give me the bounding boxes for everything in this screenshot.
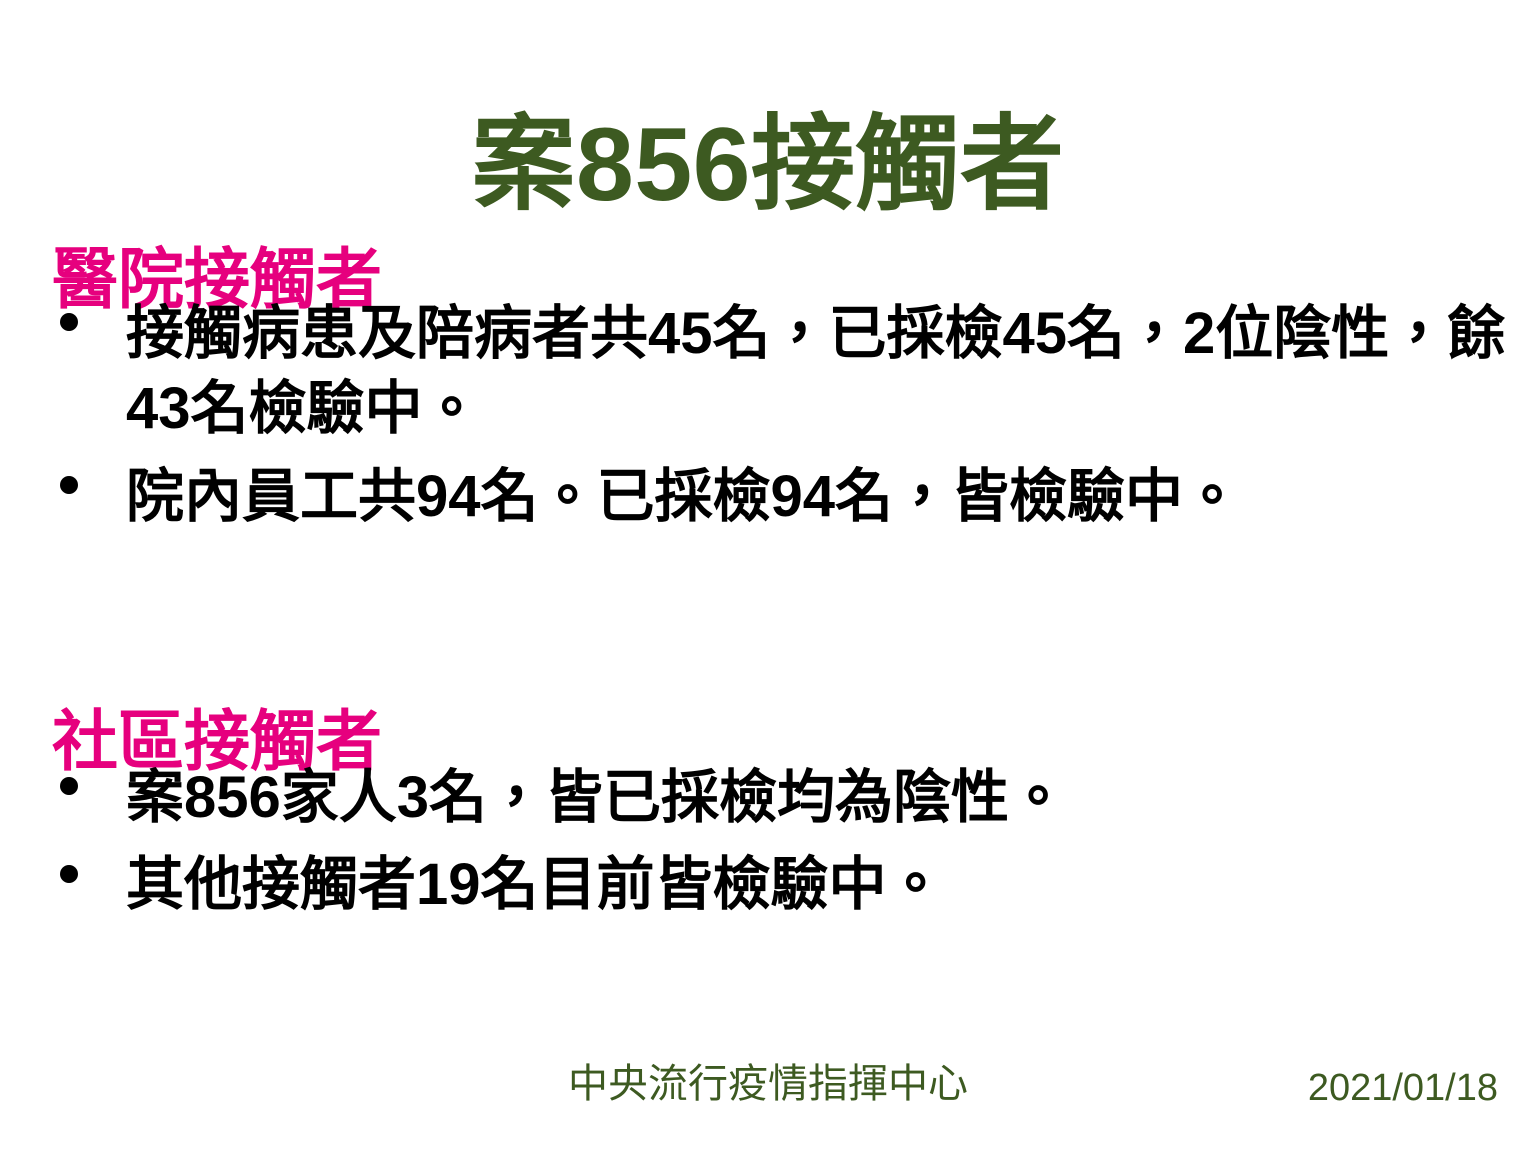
page-title: 案856接觸者: [0, 104, 1536, 227]
bullet-dot-icon: [60, 865, 78, 883]
list-item: 其他接觸者19名目前皆檢驗中。: [46, 847, 1516, 922]
bullet-dot-icon: [60, 777, 78, 795]
footer-organization: 中央流行疫情指揮中心: [0, 1060, 1536, 1108]
list-item: 案856家人3名，皆已採檢均為陰性。: [46, 760, 1516, 835]
bullet-list-community: 案856家人3名，皆已採檢均為陰性。 其他接觸者19名目前皆檢驗中。: [46, 760, 1516, 923]
slide-canvas: 案856接觸者 醫院接觸者 接觸病患及陪病者共45名，已採檢45名，2位陰性，餘…: [0, 0, 1536, 1152]
footer-date: 2021/01/18: [1308, 1066, 1498, 1112]
list-item-text: 接觸病患及陪病者共45名，已採檢45名，2位陰性，餘43名檢驗中。: [126, 296, 1516, 447]
bullet-dot-icon: [60, 476, 78, 494]
bullet-dot-icon: [60, 313, 78, 331]
list-item-text: 院內員工共94名。已採檢94名，皆檢驗中。: [126, 459, 1516, 534]
list-item-text: 其他接觸者19名目前皆檢驗中。: [126, 847, 1516, 922]
list-item: 院內員工共94名。已採檢94名，皆檢驗中。: [46, 459, 1516, 534]
list-item: 接觸病患及陪病者共45名，已採檢45名，2位陰性，餘43名檢驗中。: [46, 296, 1516, 447]
bullet-list-hospital: 接觸病患及陪病者共45名，已採檢45名，2位陰性，餘43名檢驗中。 院內員工共9…: [46, 296, 1516, 534]
list-item-text: 案856家人3名，皆已採檢均為陰性。: [126, 760, 1516, 835]
